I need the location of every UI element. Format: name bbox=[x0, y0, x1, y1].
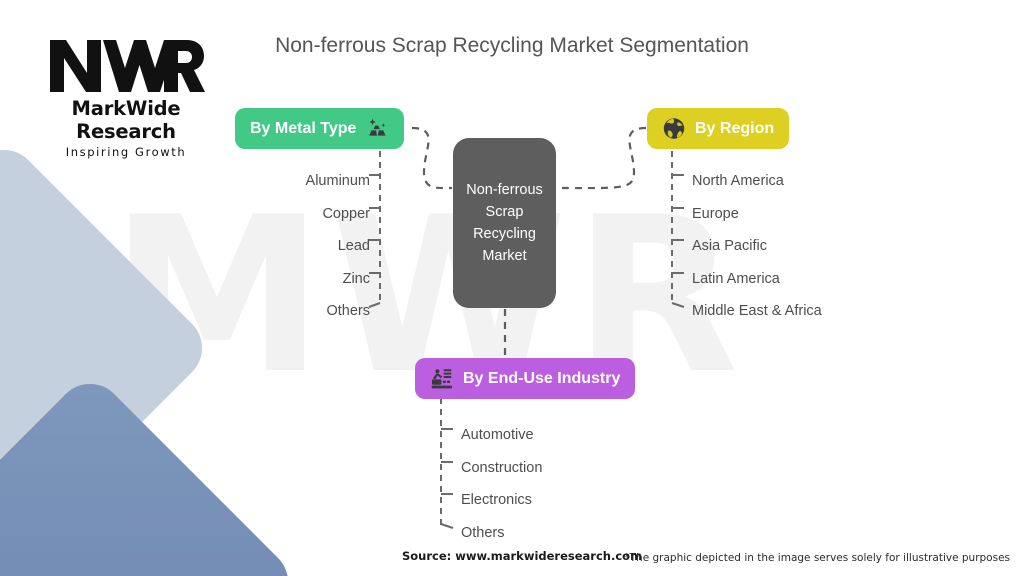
branch-badge-metal-type[interactable]: By Metal Type bbox=[235, 108, 404, 149]
branch-items-region: North America Europe Asia Pacific Latin … bbox=[692, 165, 952, 328]
branch-badge-region[interactable]: By Region bbox=[647, 108, 789, 149]
center-node-label: Non-ferrous Scrap Recycling Market bbox=[453, 179, 556, 267]
disclaimer-label: *The graphic depicted in the image serve… bbox=[624, 552, 1010, 564]
list-item[interactable]: Automotive bbox=[461, 419, 721, 452]
list-item[interactable]: Others bbox=[200, 295, 370, 328]
list-item[interactable]: Europe bbox=[692, 198, 952, 231]
brand-name: MarkWide Research bbox=[26, 97, 226, 143]
source-label: Source: www.markwideresearch.com bbox=[402, 549, 642, 563]
list-item[interactable]: Zinc bbox=[200, 263, 370, 296]
list-item[interactable]: Latin America bbox=[692, 263, 952, 296]
list-item[interactable]: North America bbox=[692, 165, 952, 198]
list-item[interactable]: Lead bbox=[200, 230, 370, 263]
branch-label-metal-type: By Metal Type bbox=[250, 120, 356, 138]
branch-badge-end-use-industry[interactable]: By End-Use Industry bbox=[415, 358, 635, 399]
factory-robot-arm-icon bbox=[430, 367, 454, 391]
branch-label-end-use-industry: By End-Use Industry bbox=[463, 370, 620, 388]
branch-items-end-use-industry: Automotive Construction Electronics Othe… bbox=[461, 419, 721, 549]
list-item[interactable]: Copper bbox=[200, 198, 370, 231]
branch-items-metal-type: Aluminum Copper Lead Zinc Others bbox=[200, 165, 370, 328]
list-item[interactable]: Construction bbox=[461, 452, 721, 485]
list-item[interactable]: Others bbox=[461, 517, 721, 550]
globe-icon bbox=[662, 117, 686, 141]
list-item[interactable]: Middle East & Africa bbox=[692, 295, 952, 328]
page-title: Non-ferrous Scrap Recycling Market Segme… bbox=[0, 34, 1024, 58]
list-item[interactable]: Asia Pacific bbox=[692, 230, 952, 263]
brand-tagline: Inspiring Growth bbox=[26, 145, 226, 159]
center-node[interactable]: Non-ferrous Scrap Recycling Market bbox=[453, 138, 556, 308]
metal-ingots-icon bbox=[365, 117, 389, 141]
branch-label-region: By Region bbox=[695, 120, 774, 138]
list-item[interactable]: Electronics bbox=[461, 484, 721, 517]
list-item[interactable]: Aluminum bbox=[200, 165, 370, 198]
